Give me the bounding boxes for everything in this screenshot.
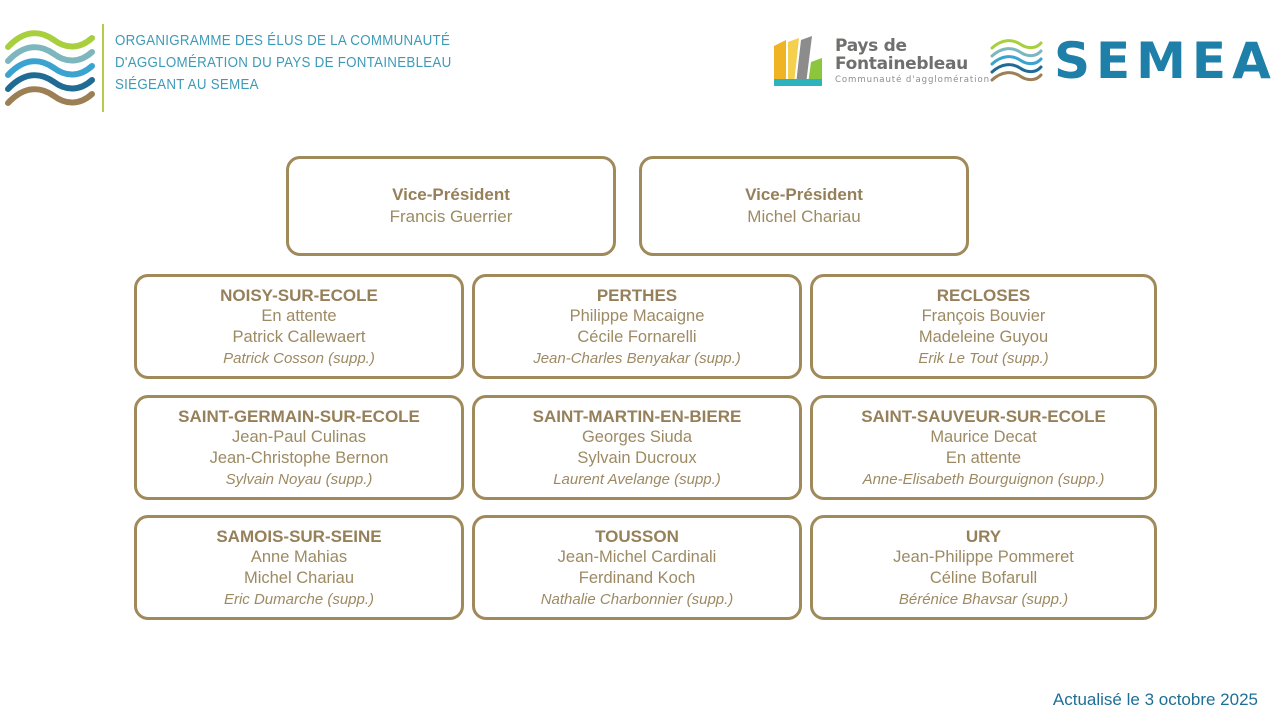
pdf-name-line-2: Fontainebleau	[835, 56, 990, 73]
pays-de-fontainebleau-logo: Pays de Fontainebleau Communauté d'agglo…	[770, 36, 990, 86]
commune-substitute: Sylvain Noyau (supp.)	[226, 470, 373, 490]
pdf-name-line-1: Pays de	[835, 38, 990, 55]
vice-president-name-1: Francis Guerrier	[390, 206, 513, 228]
page-title-line-3: SIÉGEANT AU SEMEA	[115, 74, 667, 96]
commune-card-saint-germain-sur-ecole[interactable]: SAINT-GERMAIN-SUR-ECOLE Jean-Paul Culina…	[134, 395, 464, 500]
commune-member-1: En attente	[261, 306, 336, 328]
commune-member-2: Céline Bofarull	[930, 568, 1037, 590]
commune-name: SAMOIS-SUR-SEINE	[216, 526, 381, 547]
pays-de-fontainebleau-mark-icon	[770, 36, 826, 86]
commune-member-1: Jean-Michel Cardinali	[558, 547, 717, 569]
commune-substitute: Bérénice Bhavsar (supp.)	[899, 590, 1068, 610]
commune-card-ury[interactable]: URY Jean-Philippe Pommeret Céline Bofaru…	[810, 515, 1157, 620]
commune-member-1: Anne Mahias	[251, 547, 347, 569]
commune-member-2: Madeleine Guyou	[919, 327, 1048, 349]
vice-president-role-1: Vice-Président	[392, 184, 510, 205]
commune-member-1: François Bouvier	[922, 306, 1046, 328]
commune-name: SAINT-GERMAIN-SUR-ECOLE	[178, 406, 420, 427]
vice-president-name-2: Michel Chariau	[747, 206, 860, 228]
commune-member-2: Patrick Callewaert	[233, 327, 366, 349]
commune-member-1: Jean-Paul Culinas	[232, 427, 366, 449]
semea-wave-logo-icon	[4, 28, 96, 106]
commune-card-tousson[interactable]: TOUSSON Jean-Michel Cardinali Ferdinand …	[472, 515, 802, 620]
commune-member-1: Philippe Macaigne	[570, 306, 705, 328]
commune-member-2: En attente	[946, 448, 1021, 470]
commune-substitute: Nathalie Charbonnier (supp.)	[541, 590, 734, 610]
commune-substitute: Jean-Charles Benyakar (supp.)	[533, 349, 741, 369]
page-title: ORGANIGRAMME DES ÉLUS DE LA COMMUNAUTÉ D…	[115, 30, 667, 96]
commune-substitute: Erik Le Tout (supp.)	[918, 349, 1048, 369]
commune-member-2: Ferdinand Koch	[579, 568, 696, 590]
commune-card-recloses[interactable]: RECLOSES François Bouvier Madeleine Guyo…	[810, 274, 1157, 379]
semea-logo: SEMEA	[988, 36, 1277, 86]
commune-member-2: Cécile Fornarelli	[577, 327, 696, 349]
commune-card-noisy-sur-ecole[interactable]: NOISY-SUR-ECOLE En attente Patrick Calle…	[134, 274, 464, 379]
commune-name: URY	[966, 526, 1001, 547]
commune-name: NOISY-SUR-ECOLE	[220, 285, 378, 306]
commune-member-2: Michel Chariau	[244, 568, 354, 590]
commune-name: PERTHES	[597, 285, 677, 306]
header-divider	[102, 24, 104, 112]
commune-member-2: Sylvain Ducroux	[577, 448, 696, 470]
vice-president-role-2: Vice-Président	[745, 184, 863, 205]
commune-card-saint-martin-en-biere[interactable]: SAINT-MARTIN-EN-BIERE Georges Siuda Sylv…	[472, 395, 802, 500]
vice-president-card-2[interactable]: Vice-Président Michel Chariau	[639, 156, 969, 256]
page-title-line-2: D'AGGLOMÉRATION DU PAYS DE FONTAINEBLEAU	[115, 52, 667, 74]
commune-member-1: Georges Siuda	[582, 427, 692, 449]
vice-president-card-1[interactable]: Vice-Président Francis Guerrier	[286, 156, 616, 256]
page-header: ORGANIGRAMME DES ÉLUS DE LA COMMUNAUTÉ D…	[0, 0, 1280, 120]
commune-substitute: Laurent Avelange (supp.)	[553, 470, 721, 490]
commune-name: SAINT-MARTIN-EN-BIERE	[533, 406, 742, 427]
commune-member-2: Jean-Christophe Bernon	[210, 448, 389, 470]
commune-card-saint-sauveur-sur-ecole[interactable]: SAINT-SAUVEUR-SUR-ECOLE Maurice Decat En…	[810, 395, 1157, 500]
pdf-tagline: Communauté d'agglomération	[835, 76, 990, 85]
last-updated-label: Actualisé le 3 octobre 2025	[1053, 690, 1258, 710]
commune-member-1: Maurice Decat	[930, 427, 1036, 449]
commune-substitute: Patrick Cosson (supp.)	[223, 349, 375, 369]
commune-card-samois-sur-seine[interactable]: SAMOIS-SUR-SEINE Anne Mahias Michel Char…	[134, 515, 464, 620]
commune-card-perthes[interactable]: PERTHES Philippe Macaigne Cécile Fornare…	[472, 274, 802, 379]
pays-de-fontainebleau-text: Pays de Fontainebleau Communauté d'agglo…	[835, 38, 990, 85]
commune-substitute: Anne-Elisabeth Bourguignon (supp.)	[863, 470, 1105, 490]
semea-small-wave-icon	[988, 38, 1044, 84]
commune-substitute: Eric Dumarche (supp.)	[224, 590, 374, 610]
commune-name: RECLOSES	[937, 285, 1031, 306]
semea-wordmark: SEMEA	[1054, 36, 1277, 86]
commune-name: SAINT-SAUVEUR-SUR-ECOLE	[861, 406, 1106, 427]
commune-name: TOUSSON	[595, 526, 679, 547]
commune-member-1: Jean-Philippe Pommeret	[893, 547, 1074, 569]
page-title-line-1: ORGANIGRAMME DES ÉLUS DE LA COMMUNAUTÉ	[115, 30, 667, 52]
